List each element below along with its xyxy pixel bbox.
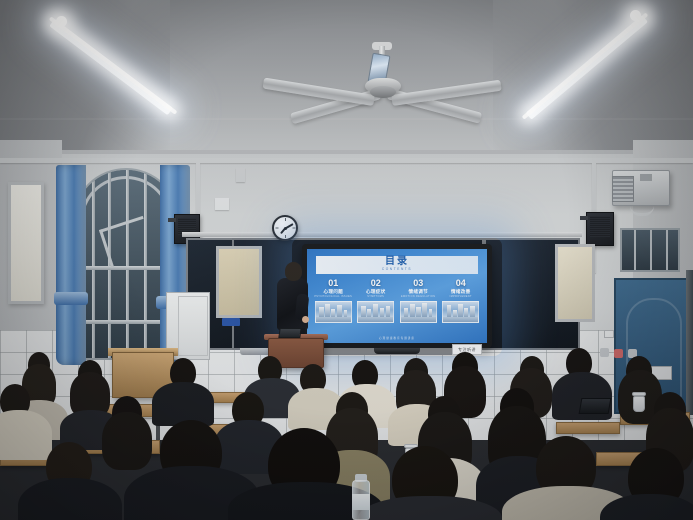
clock-tick: [285, 236, 286, 239]
presentation-screen[interactable]: 目录 CONTENTS 01 心理问题 PSYCHOLOGICAL ISSUES: [302, 244, 492, 348]
speaker-bracket: [168, 218, 176, 222]
section-thumbnail: [357, 301, 394, 323]
board-label-tag: [222, 318, 240, 326]
wall-poster: [8, 182, 44, 304]
wall-clock: [272, 215, 298, 241]
transom-bar: [650, 230, 652, 270]
section-number: 02: [371, 278, 381, 288]
slide-surface: 目录 CONTENTS 01 心理问题 PSYCHOLOGICAL ISSUES: [307, 249, 487, 343]
thumb-ground: [316, 317, 351, 322]
student-hair: [102, 412, 152, 470]
window-security-bar: [126, 170, 129, 358]
window-security-bar: [92, 170, 95, 358]
thumb-ground: [401, 317, 436, 322]
speaker-bracket: [580, 216, 588, 220]
section-english: PSYCHOLOGICAL ISSUES: [314, 295, 352, 299]
ceiling-seam-2: [0, 118, 693, 120]
section-number: 03: [413, 278, 423, 288]
clock-tick: [285, 218, 286, 221]
wall-speaker-right: [586, 212, 614, 246]
water-bottle-label: [352, 494, 370, 510]
slide-title: 目录: [385, 257, 409, 267]
slide-subtitle: CONTENTS: [382, 267, 412, 272]
ceiling-shadow-right: [493, 0, 693, 150]
classroom-photo: 目录 CONTENTS 01 心理问题 PSYCHOLOGICAL ISSUES: [0, 0, 693, 520]
section-label: 情绪调节: [408, 288, 428, 295]
section-label: 心理症状: [366, 288, 386, 295]
ac-control-box: [640, 174, 652, 181]
bulletin-board-left: [216, 246, 262, 318]
section-number: 01: [328, 278, 338, 288]
ceiling-shadow-left: [0, 0, 170, 150]
presenter-hand: [302, 316, 309, 323]
slide-section: 03 情绪调节 EMOTION REGULATION: [399, 278, 437, 330]
window-curtain-left[interactable]: [56, 165, 86, 365]
wall-sticker: [600, 348, 609, 357]
window-security-bar: [144, 170, 147, 358]
section-thumbnail: [315, 301, 352, 323]
clock-tick: [276, 228, 279, 229]
wall-socket[interactable]: [604, 330, 614, 338]
door-frame: [686, 270, 693, 415]
wall-sticker: [614, 349, 623, 358]
blackboard-rail: [182, 232, 582, 237]
clock-tick: [293, 228, 296, 229]
clock-center-dot: [284, 227, 287, 230]
section-thumbnail: [400, 301, 437, 323]
slide-section: 04 情绪改善 IMPROVEMENT: [442, 278, 480, 330]
slide-section: 02 心理症状 SYMPTOMS: [357, 278, 395, 330]
section-english: IMPROVEMENT: [450, 295, 472, 299]
drink-cup: [633, 396, 645, 412]
transom-bar: [634, 230, 636, 270]
wall-top-rail: [0, 150, 693, 154]
light-cap-right: [630, 10, 641, 21]
slide-footer: 心理健康教育专题讲座: [307, 336, 487, 340]
slide-title-bar: 目录 CONTENTS: [316, 256, 478, 275]
student-body: [152, 382, 214, 426]
section-number: 04: [456, 278, 466, 288]
curtain-tieback[interactable]: [54, 292, 88, 305]
student-body: [18, 478, 122, 520]
slide-sections: 01 心理问题 PSYCHOLOGICAL ISSUES 02 心理症状: [314, 278, 480, 330]
speaker-grill: [590, 216, 610, 237]
transom-bar: [666, 230, 668, 270]
wall-switch-box: [215, 198, 229, 210]
student-body: [0, 410, 52, 460]
student-laptop: [579, 398, 612, 414]
cabinet-door[interactable]: [178, 296, 208, 356]
slide-section: 01 心理问题 PSYCHOLOGICAL ISSUES: [314, 278, 352, 330]
section-label: 心理问题: [323, 288, 343, 295]
section-label: 情绪改善: [451, 288, 471, 295]
section-thumbnail: [442, 301, 479, 323]
ceiling-fan-hub: [370, 86, 396, 98]
screen-stand: [374, 348, 420, 354]
section-english: EMOTION REGULATION: [401, 295, 435, 299]
student-desk: [556, 422, 620, 434]
presenter-head: [285, 262, 302, 281]
thumb-ground: [443, 317, 478, 322]
junction-box: [236, 168, 245, 182]
section-english: SYMPTOMS: [367, 295, 384, 299]
bulletin-board-right: [555, 244, 595, 322]
ac-vent-louvers: [612, 176, 634, 202]
light-cap-left: [56, 16, 67, 27]
conduit-pipe: [0, 158, 693, 163]
podium-laptop: [278, 328, 301, 338]
thumb-ground: [358, 317, 393, 322]
